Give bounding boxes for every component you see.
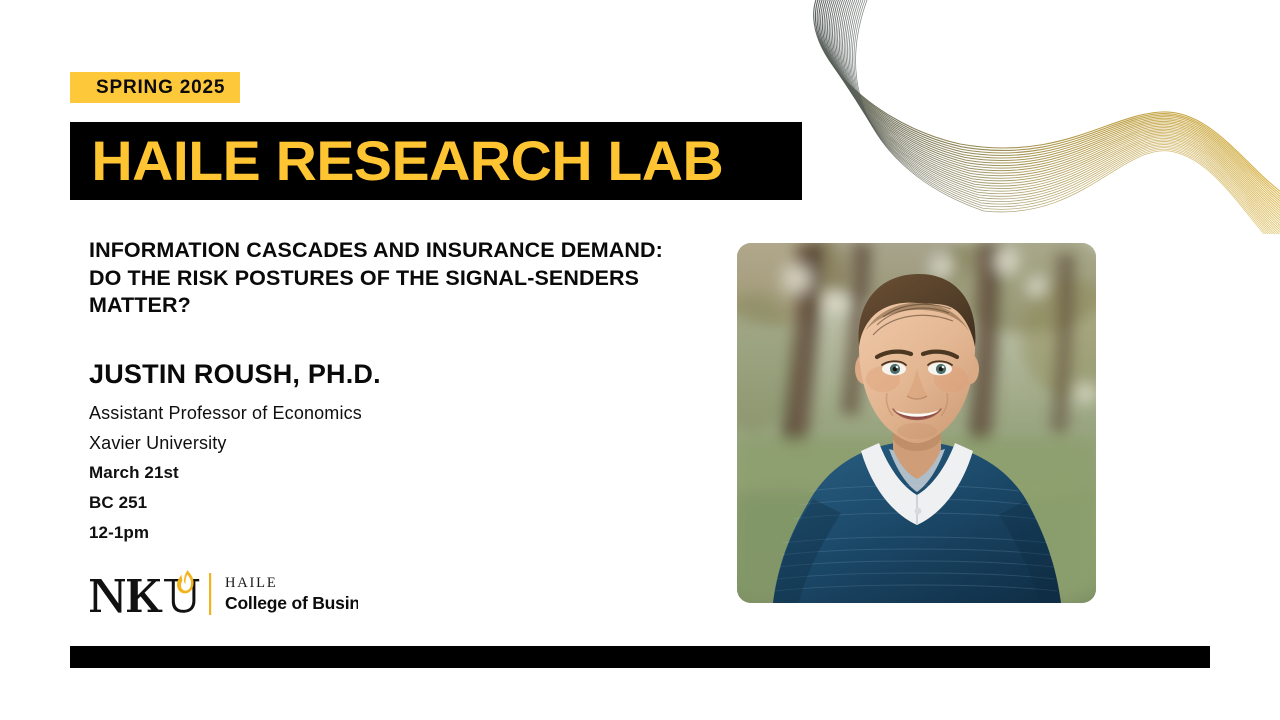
talk-title: INFORMATION CASCADES AND INSURANCE DEMAN… [89,237,679,320]
logo-college-line1: HAILE [225,575,278,591]
speaker-name: JUSTIN ROUSH, PH.D. [89,360,381,390]
event-location: BC 251 [89,488,649,518]
logo-divider [209,573,211,615]
logo-college-line2: College of Business [225,593,358,613]
speaker-details: Assistant Professor of Economics Xavier … [89,398,649,548]
nku-haile-college-logo: HAILE College of Business [88,568,358,620]
event-date: March 21st [89,458,649,488]
speaker-institution: Xavier University [89,428,649,458]
concentric-wave-lines-decoration [810,0,1280,234]
speaker-affiliation-title: Assistant Professor of Economics [89,398,649,428]
lab-title: HAILE RESEARCH LAB [70,133,723,189]
season-badge-label: SPRING 2025 [96,78,225,97]
lab-title-bar: HAILE RESEARCH LAB [70,122,802,200]
bottom-rule [70,646,1210,668]
event-time: 12-1pm [89,518,649,548]
season-badge: SPRING 2025 [70,72,240,103]
flame-icon [177,570,194,593]
speaker-headshot [737,243,1096,603]
flyer-slide: SPRING 2025 HAILE RESEARCH LAB INFORMATI… [0,0,1280,720]
